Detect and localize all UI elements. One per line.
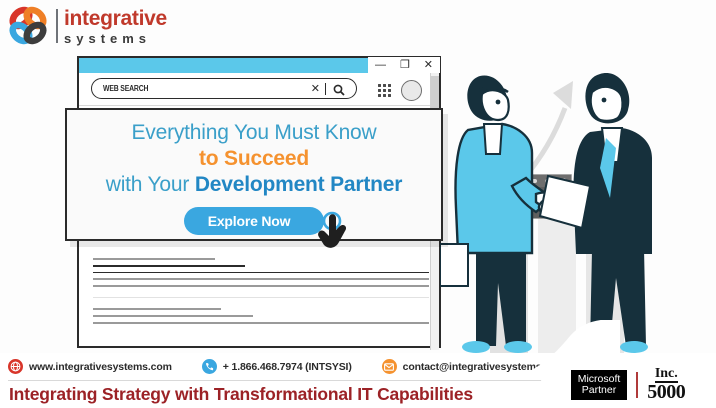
microsoft-partner-badge: Microsoft Partner xyxy=(571,370,628,401)
phone-text: + 1.866.468.7974 (INTSYSI) xyxy=(223,361,352,373)
content-line xyxy=(93,265,245,267)
phone-icon xyxy=(202,359,217,374)
inc-5000-badge: Inc. 5000 xyxy=(647,368,685,401)
email-icon xyxy=(382,359,397,374)
content-line xyxy=(93,258,215,260)
partner-label: Partner xyxy=(578,385,621,396)
contact-phone[interactable]: + 1.866.468.7974 (INTSYSI) xyxy=(202,359,352,374)
content-line xyxy=(93,278,429,280)
banner-canvas: integrative systems — ❐ ✕ WEB xyxy=(0,0,716,408)
close-icon[interactable]: ✕ xyxy=(424,60,433,71)
two-businessmen-handshake-illustration xyxy=(440,58,716,358)
globe-icon xyxy=(8,359,23,374)
brand-logo[interactable]: integrative systems xyxy=(6,4,167,48)
content-line xyxy=(93,308,221,310)
brand-divider xyxy=(56,9,58,43)
inc-number: 5000 xyxy=(647,383,685,401)
grid-apps-icon[interactable] xyxy=(378,84,391,97)
contact-row: www.integrativesystems.com + 1.866.468.7… xyxy=(8,359,565,374)
brand-wordmark: integrative systems xyxy=(64,8,167,45)
page-content-lines xyxy=(93,258,429,329)
website-text: www.integrativesystems.com xyxy=(29,361,172,373)
contact-website[interactable]: www.integrativesystems.com xyxy=(8,359,172,374)
explore-now-button[interactable]: Explore Now xyxy=(184,207,325,235)
content-divider xyxy=(93,297,429,298)
headline-line-2: to Succeed xyxy=(199,147,309,171)
footer-bar: www.integrativesystems.com + 1.866.468.7… xyxy=(0,353,716,408)
illustration-scene: — ❐ ✕ WEB SEARCH ✕ xyxy=(0,48,716,353)
minimize-icon[interactable]: — xyxy=(375,60,386,71)
user-avatar-circle[interactable] xyxy=(401,80,422,101)
headline-line-3-bold: Development Partner xyxy=(195,173,402,196)
footer-divider xyxy=(8,380,548,381)
brand-subname: systems xyxy=(64,32,167,45)
headline-line-3: with Your Development Partner xyxy=(106,173,403,197)
content-line xyxy=(93,315,253,317)
window-controls[interactable]: — ❐ ✕ xyxy=(368,57,440,73)
search-input-value: WEB SEARCH xyxy=(103,84,148,93)
content-line xyxy=(93,322,429,324)
search-divider xyxy=(325,83,326,95)
hand-pointer-cursor-icon xyxy=(315,208,359,264)
content-line xyxy=(93,285,429,287)
headline-card: Everything You Must Know to Succeed with… xyxy=(65,108,443,241)
browser-toolbar: WEB SEARCH ✕ xyxy=(79,73,439,106)
headline-line-1: Everything You Must Know xyxy=(131,121,376,145)
badge-divider xyxy=(636,372,638,398)
partner-badges: Microsoft Partner Inc. 5000 xyxy=(540,362,716,408)
footer-tagline: Integrating Strategy with Transformation… xyxy=(9,384,473,405)
brand-name: integrative xyxy=(64,8,167,29)
content-line xyxy=(93,272,429,274)
restore-icon[interactable]: ❐ xyxy=(400,60,410,71)
search-input[interactable]: WEB SEARCH ✕ xyxy=(91,78,357,99)
headline-line-3-prefix: with Your xyxy=(106,173,195,196)
magnifier-icon[interactable] xyxy=(333,83,345,101)
infinity-petals-logo-icon xyxy=(6,4,50,48)
close-x-icon[interactable]: ✕ xyxy=(311,83,320,96)
